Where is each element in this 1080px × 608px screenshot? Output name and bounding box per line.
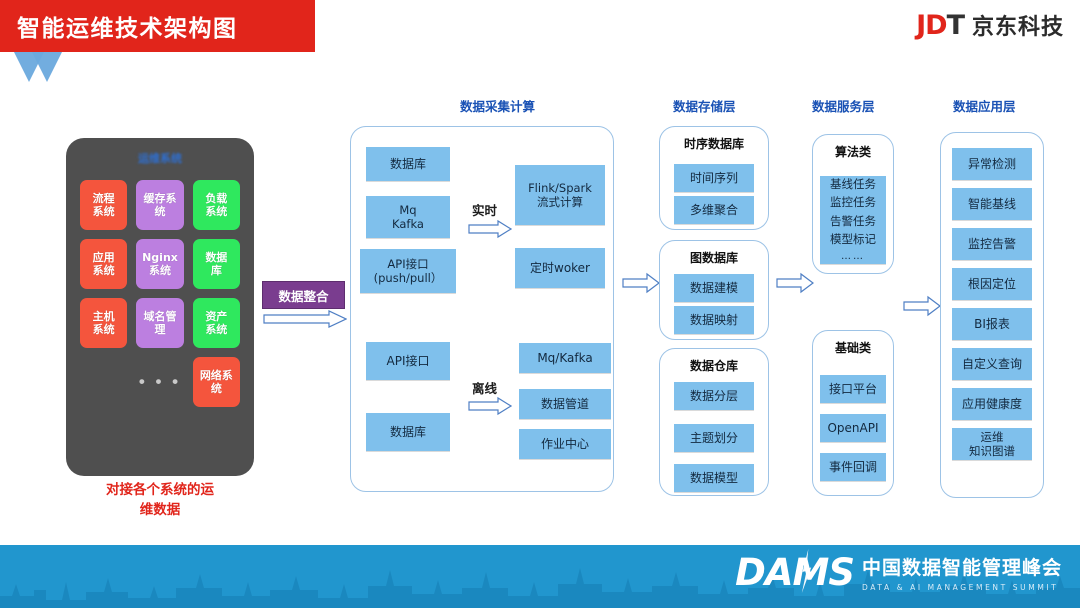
algorithm-item: 基线任务 <box>830 176 876 193</box>
collect-source-api-offline[interactable]: API接口 <box>366 342 450 380</box>
collect-source-database-offline[interactable]: 数据库 <box>366 413 450 451</box>
source-systems-panel: 运维系统 流程系统缓存系统负载系统应用系统Nginx系统数据库主机系统域名管理资… <box>66 138 254 476</box>
offline-label: 离线 <box>472 378 497 397</box>
source-system-box[interactable]: 流程系统 <box>80 180 127 230</box>
collect-source-database[interactable]: 数据库 <box>366 147 450 181</box>
source-system-box[interactable]: 数据库 <box>193 239 240 289</box>
algorithm-item: …… <box>841 249 865 264</box>
algorithm-item: 监控任务 <box>830 194 876 211</box>
warehouse-item-layering[interactable]: 数据分层 <box>674 382 754 410</box>
warehouse-item-data-model[interactable]: 数据模型 <box>674 464 754 492</box>
application-item[interactable]: 监控告警 <box>952 228 1032 260</box>
tsdb-item-time-series[interactable]: 时间序列 <box>674 164 754 192</box>
source-systems-caption: 对接各个系统的运维数据 <box>60 481 260 520</box>
dams-english-name: DATA & AI MANAGEMENT SUMMIT <box>862 583 1062 592</box>
source-system-box[interactable]: 域名管理 <box>136 298 183 348</box>
realtime-label: 实时 <box>472 200 497 219</box>
source-systems-ellipsis: • • • <box>136 357 183 407</box>
basic-item-event-callback[interactable]: 事件回调 <box>820 453 886 481</box>
source-system-box[interactable]: 资产系统 <box>193 298 240 348</box>
source-system-box[interactable]: 应用系统 <box>80 239 127 289</box>
jdt-wordmark: JDT <box>916 10 964 41</box>
graphdb-item-mapping[interactable]: 数据映射 <box>674 306 754 334</box>
tsdb-item-multi-dim-agg[interactable]: 多维聚合 <box>674 196 754 224</box>
source-system-box[interactable]: 网络系统 <box>193 357 240 407</box>
column-header-storage: 数据存储层 <box>673 96 736 115</box>
application-item[interactable]: 应用健康度 <box>952 388 1032 420</box>
service-group-basic-title: 基础类 <box>813 339 893 356</box>
source-systems-panel-title: 运维系统 <box>66 150 254 166</box>
algorithm-items-box[interactable]: 基线任务监控任务告警任务模型标记…… <box>820 176 886 264</box>
source-system-box[interactable]: 负载系统 <box>193 180 240 230</box>
title-banner: 智能运维技术架构图 <box>0 0 315 52</box>
application-item[interactable]: BI报表 <box>952 308 1032 340</box>
column-header-service: 数据服务层 <box>812 96 875 115</box>
data-integration-chip[interactable]: 数据整合 <box>262 281 345 309</box>
column-header-application: 数据应用层 <box>953 96 1016 115</box>
logo-letter-t: T <box>947 10 964 41</box>
application-item[interactable]: 运维知识图谱 <box>952 428 1032 460</box>
source-system-box[interactable]: 主机系统 <box>80 298 127 348</box>
page-title: 智能运维技术架构图 <box>17 9 238 43</box>
basic-item-openapi[interactable]: OpenAPI <box>820 414 886 442</box>
dams-subtitle-block: 中国数据智能管理峰会 DATA & AI MANAGEMENT SUMMIT <box>862 553 1062 592</box>
offline-flow-arrow <box>468 396 512 421</box>
service-to-application-arrow <box>903 295 941 322</box>
source-system-box[interactable]: 缓存系统 <box>136 180 183 230</box>
storage-group-warehouse-title: 数据仓库 <box>660 357 768 374</box>
algorithm-item: 告警任务 <box>830 213 876 230</box>
algorithm-item: 模型标记 <box>830 231 876 248</box>
application-item[interactable]: 智能基线 <box>952 188 1032 220</box>
collect-target-scheduled-worker[interactable]: 定时woker <box>515 248 605 288</box>
graphdb-item-modeling[interactable]: 数据建模 <box>674 274 754 302</box>
application-item[interactable]: 自定义查询 <box>952 348 1032 380</box>
logo-letter-d: D <box>925 10 946 41</box>
collect-source-api[interactable]: API接口(push/pull） <box>360 249 456 293</box>
bottom-banner: DAMS 中国数据智能管理峰会 DATA & AI MANAGEMENT SUM… <box>0 545 1080 608</box>
dams-brand-text: DAMS <box>735 551 854 594</box>
jd-technology-logo: JDT 京东科技 <box>916 9 1064 41</box>
realtime-flow-arrow <box>468 219 512 244</box>
application-item[interactable]: 异常检测 <box>952 148 1032 180</box>
collect-target-mq-kafka[interactable]: Mq/Kafka <box>519 343 611 373</box>
collect-source-mq-kafka[interactable]: MqKafka <box>366 196 450 238</box>
warehouse-item-subject-division[interactable]: 主题划分 <box>674 424 754 452</box>
decorative-w-shape <box>8 52 68 82</box>
slide-root: 智能运维技术架构图 JDT 京东科技 运维系统 流程系统缓存系统负载系统应用系统… <box>0 0 1080 608</box>
collect-to-storage-arrow <box>622 272 660 299</box>
collect-target-data-pipeline[interactable]: 数据管道 <box>519 389 611 419</box>
logo-letter-j: J <box>916 10 925 41</box>
basic-item-api-platform[interactable]: 接口平台 <box>820 375 886 403</box>
logo-chinese-name: 京东科技 <box>972 9 1064 41</box>
source-systems-grid: 流程系统缓存系统负载系统应用系统Nginx系统数据库主机系统域名管理资产系统• … <box>80 180 240 407</box>
application-item[interactable]: 根因定位 <box>952 268 1032 300</box>
dams-chinese-name: 中国数据智能管理峰会 <box>862 553 1062 580</box>
storage-group-graphdb-title: 图数据库 <box>660 249 768 266</box>
storage-to-service-arrow <box>776 272 814 299</box>
storage-group-tsdb-title: 时序数据库 <box>660 135 768 152</box>
source-system-box[interactable]: Nginx系统 <box>136 239 183 289</box>
service-group-algorithm-title: 算法类 <box>813 143 893 160</box>
dams-wordmark: DAMS <box>735 554 854 591</box>
dams-logo: DAMS 中国数据智能管理峰会 DATA & AI MANAGEMENT SUM… <box>735 553 1062 592</box>
integration-flow-arrow <box>263 310 347 328</box>
collect-target-job-center[interactable]: 作业中心 <box>519 429 611 459</box>
column-header-collect: 数据采集计算 <box>460 96 535 115</box>
collect-target-flink-spark[interactable]: Flink/Spark流式计算 <box>515 165 605 225</box>
